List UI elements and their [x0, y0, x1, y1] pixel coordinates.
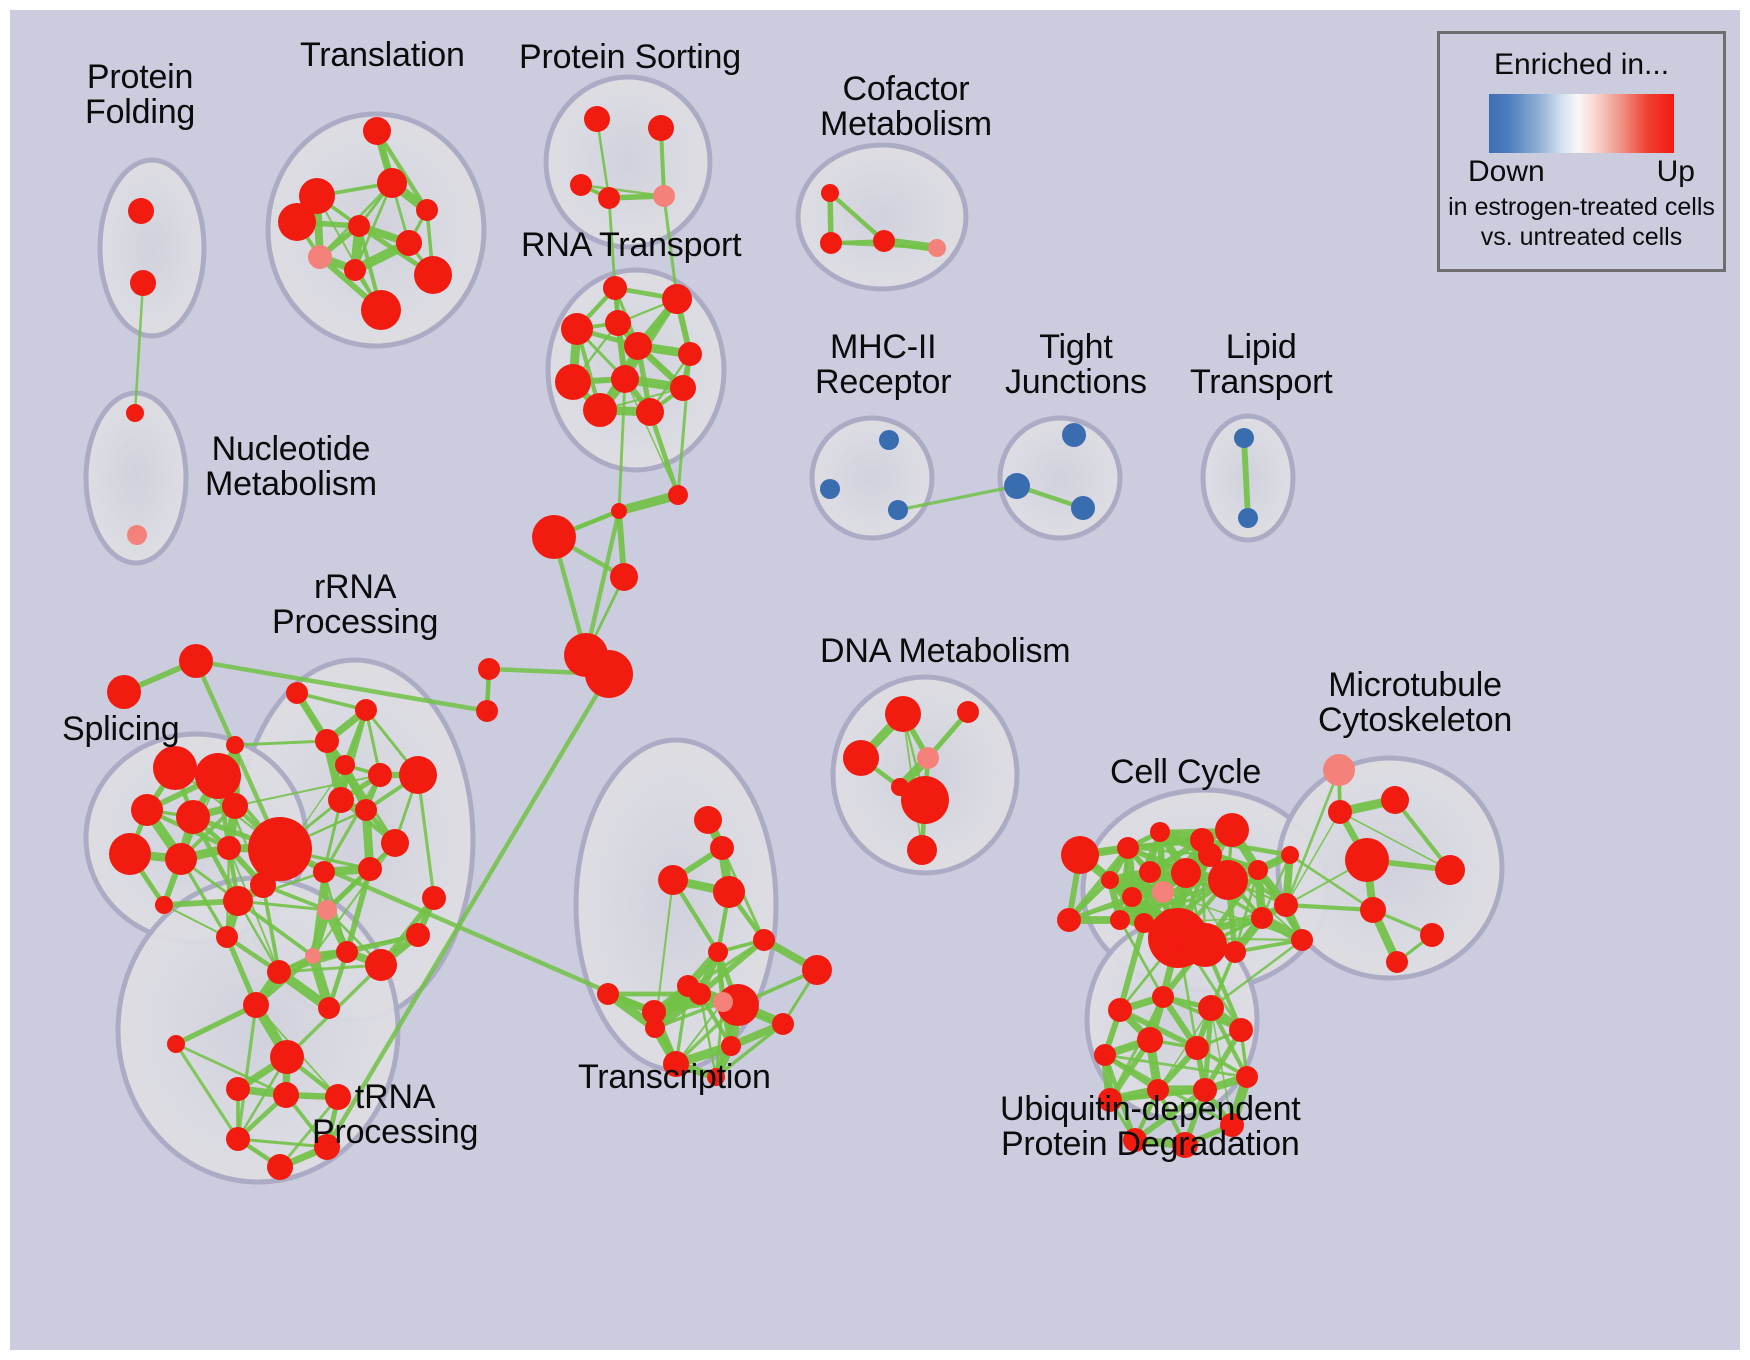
- network-node[interactable]: [335, 755, 355, 775]
- network-node[interactable]: [109, 833, 151, 875]
- network-node[interactable]: [611, 503, 627, 519]
- network-node[interactable]: [414, 256, 452, 294]
- network-node[interactable]: [1291, 929, 1313, 951]
- network-node[interactable]: [658, 865, 688, 895]
- network-node[interactable]: [1061, 836, 1099, 874]
- network-node[interactable]: [694, 806, 722, 834]
- network-node[interactable]: [907, 835, 937, 865]
- network-node[interactable]: [707, 1068, 725, 1086]
- network-node[interactable]: [928, 239, 946, 257]
- network-node[interactable]: [598, 187, 620, 209]
- network-node[interactable]: [176, 800, 210, 834]
- legend-endpoint-labels: Down Up: [1474, 155, 1689, 193]
- network-node[interactable]: [1251, 907, 1273, 929]
- network-node[interactable]: [1323, 754, 1355, 786]
- network-node[interactable]: [1215, 813, 1249, 847]
- network-node[interactable]: [195, 753, 241, 799]
- network-node[interactable]: [381, 829, 409, 857]
- network-node[interactable]: [107, 675, 141, 709]
- network-node[interactable]: [1435, 855, 1465, 885]
- network-node[interactable]: [843, 740, 879, 776]
- network-node[interactable]: [216, 926, 238, 948]
- network-node[interactable]: [721, 1036, 741, 1056]
- network-node[interactable]: [368, 763, 392, 787]
- network-node[interactable]: [355, 799, 377, 821]
- network-node[interactable]: [355, 699, 377, 721]
- network-node[interactable]: [153, 746, 197, 790]
- network-node[interactable]: [1150, 822, 1170, 842]
- network-node[interactable]: [217, 836, 241, 860]
- network-node[interactable]: [624, 332, 652, 360]
- legend-caption-line-2: vs. untreated cells: [1440, 223, 1723, 253]
- network-node[interactable]: [713, 876, 745, 908]
- network-node[interactable]: [328, 787, 354, 813]
- network-node[interactable]: [226, 736, 244, 754]
- network-node[interactable]: [365, 949, 397, 981]
- network-node[interactable]: [1071, 496, 1095, 520]
- network-node[interactable]: [1094, 1044, 1116, 1066]
- network-node[interactable]: [1122, 887, 1142, 907]
- network-node[interactable]: [802, 955, 832, 985]
- cluster-hull-protein-sorting: [546, 77, 710, 247]
- network-node[interactable]: [273, 1082, 299, 1108]
- network-node[interactable]: [957, 701, 979, 723]
- network-node[interactable]: [1110, 910, 1130, 930]
- network-node[interactable]: [1183, 923, 1227, 967]
- network-node[interactable]: [344, 259, 366, 281]
- network-node[interactable]: [603, 276, 627, 300]
- network-node[interactable]: [243, 992, 269, 1018]
- network-node[interactable]: [772, 1013, 794, 1035]
- network-node[interactable]: [583, 393, 617, 427]
- network-node[interactable]: [597, 983, 619, 1005]
- network-node[interactable]: [358, 857, 382, 881]
- network-node[interactable]: [1281, 846, 1299, 864]
- network-node[interactable]: [678, 342, 702, 366]
- network-node[interactable]: [1328, 800, 1352, 824]
- network-node[interactable]: [1420, 923, 1444, 947]
- network-node[interactable]: [1248, 860, 1268, 880]
- network-node[interactable]: [1185, 1036, 1209, 1060]
- network-node[interactable]: [130, 270, 156, 296]
- network-node[interactable]: [585, 650, 633, 698]
- network-node[interactable]: [888, 500, 908, 520]
- network-node[interactable]: [710, 836, 734, 860]
- network-node[interactable]: [611, 365, 639, 393]
- network-node[interactable]: [1172, 1132, 1198, 1158]
- network-node[interactable]: [167, 1035, 185, 1053]
- network-node[interactable]: [1238, 508, 1258, 528]
- network-node[interactable]: [1057, 908, 1081, 932]
- network-node[interactable]: [1193, 1078, 1217, 1102]
- network-node[interactable]: [325, 1084, 351, 1110]
- network-node[interactable]: [1198, 995, 1224, 1021]
- network-node[interactable]: [636, 398, 664, 426]
- legend-box: Enriched in... Down Up in estrogen-treat…: [1437, 31, 1726, 272]
- network-node[interactable]: [1220, 1113, 1244, 1137]
- network-node[interactable]: [406, 923, 430, 947]
- network-node[interactable]: [584, 106, 610, 132]
- network-node[interactable]: [278, 203, 316, 241]
- network-node[interactable]: [917, 747, 939, 769]
- network-node[interactable]: [416, 199, 438, 221]
- network-node[interactable]: [1229, 1018, 1253, 1042]
- network-node[interactable]: [308, 245, 332, 269]
- network-node[interactable]: [879, 430, 899, 450]
- network-node[interactable]: [653, 185, 675, 207]
- legend-color-bar: [1489, 94, 1674, 153]
- cluster-hull-mhc-ii-receptor: [812, 418, 932, 538]
- network-node[interactable]: [642, 1000, 666, 1024]
- network-node[interactable]: [267, 960, 291, 984]
- network-node[interactable]: [1381, 786, 1409, 814]
- network-node[interactable]: [689, 983, 711, 1005]
- network-node[interactable]: [1147, 1079, 1169, 1101]
- cluster-hull-cofactor-metabolism: [798, 145, 966, 289]
- network-node[interactable]: [662, 284, 692, 314]
- network-node[interactable]: [555, 364, 591, 400]
- network-node[interactable]: [270, 1040, 304, 1074]
- network-node[interactable]: [570, 174, 592, 196]
- cluster-hull-layer: [86, 77, 1502, 1182]
- network-node[interactable]: [663, 1051, 689, 1077]
- network-node[interactable]: [314, 1134, 340, 1160]
- network-node[interactable]: [1171, 858, 1201, 888]
- network-node[interactable]: [1137, 1027, 1163, 1053]
- network-node[interactable]: [1098, 1088, 1122, 1112]
- network-node[interactable]: [422, 886, 446, 910]
- network-node[interactable]: [127, 525, 147, 545]
- network-node[interactable]: [222, 793, 248, 819]
- network-node[interactable]: [128, 198, 154, 224]
- network-node[interactable]: [363, 117, 391, 145]
- network-node[interactable]: [1224, 941, 1246, 963]
- network-node[interactable]: [248, 817, 312, 881]
- network-node[interactable]: [1139, 861, 1161, 883]
- network-node[interactable]: [1234, 428, 1254, 448]
- network-node[interactable]: [165, 843, 197, 875]
- network-node[interactable]: [226, 1077, 250, 1101]
- network-node[interactable]: [1004, 473, 1030, 499]
- network-node[interactable]: [1123, 1128, 1147, 1152]
- network-node[interactable]: [713, 992, 733, 1012]
- network-node[interactable]: [361, 290, 401, 330]
- network-node[interactable]: [348, 215, 370, 237]
- network-node[interactable]: [179, 644, 213, 678]
- network-node[interactable]: [336, 941, 358, 963]
- cluster-hull-protein-folding: [100, 160, 204, 336]
- network-node[interactable]: [313, 861, 335, 883]
- network-node[interactable]: [377, 168, 407, 198]
- network-node[interactable]: [885, 696, 921, 732]
- network-node[interactable]: [155, 896, 173, 914]
- network-node[interactable]: [126, 404, 144, 422]
- network-node[interactable]: [131, 794, 163, 826]
- network-node[interactable]: [648, 115, 674, 141]
- network-node[interactable]: [821, 184, 839, 202]
- network-node[interactable]: [478, 658, 500, 680]
- network-node[interactable]: [668, 485, 688, 505]
- network-node[interactable]: [820, 479, 840, 499]
- network-node[interactable]: [610, 563, 638, 591]
- network-node[interactable]: [305, 948, 321, 964]
- figure-canvas: Protein FoldingTranslationNucleotide Met…: [0, 0, 1750, 1360]
- legend-caption-line-1: in estrogen-treated cells: [1440, 193, 1723, 223]
- network-node[interactable]: [1345, 838, 1389, 882]
- legend-title: Enriched in...: [1440, 48, 1723, 82]
- network-node[interactable]: [1152, 986, 1174, 1008]
- network-node[interactable]: [286, 682, 308, 704]
- network-node[interactable]: [1108, 998, 1132, 1022]
- network-node[interactable]: [873, 230, 895, 252]
- network-node[interactable]: [1274, 893, 1298, 917]
- network-node[interactable]: [223, 886, 253, 916]
- network-node[interactable]: [396, 230, 422, 256]
- network-node[interactable]: [1360, 897, 1386, 923]
- network-node[interactable]: [318, 997, 340, 1019]
- network-node[interactable]: [561, 313, 593, 345]
- network-node[interactable]: [399, 756, 437, 794]
- network-node[interactable]: [1117, 837, 1139, 859]
- legend-high-label: Up: [1657, 155, 1695, 189]
- network-node[interactable]: [317, 900, 337, 920]
- network-node[interactable]: [1152, 881, 1174, 903]
- legend-low-label: Down: [1468, 155, 1545, 189]
- network-node[interactable]: [1386, 951, 1408, 973]
- network-node[interactable]: [1101, 871, 1119, 889]
- network-node[interactable]: [605, 310, 631, 336]
- network-node[interactable]: [315, 729, 339, 753]
- network-node[interactable]: [820, 232, 842, 254]
- network-node[interactable]: [708, 942, 728, 962]
- network-node[interactable]: [901, 776, 949, 824]
- network-node[interactable]: [670, 375, 696, 401]
- network-node[interactable]: [226, 1127, 250, 1151]
- network-node[interactable]: [1236, 1066, 1258, 1088]
- network-node[interactable]: [1198, 843, 1222, 867]
- network-edge: [1244, 438, 1248, 518]
- network-node[interactable]: [1062, 423, 1086, 447]
- network-node[interactable]: [753, 929, 775, 951]
- network-node[interactable]: [532, 515, 576, 559]
- network-node[interactable]: [476, 700, 498, 722]
- network-node[interactable]: [267, 1154, 293, 1180]
